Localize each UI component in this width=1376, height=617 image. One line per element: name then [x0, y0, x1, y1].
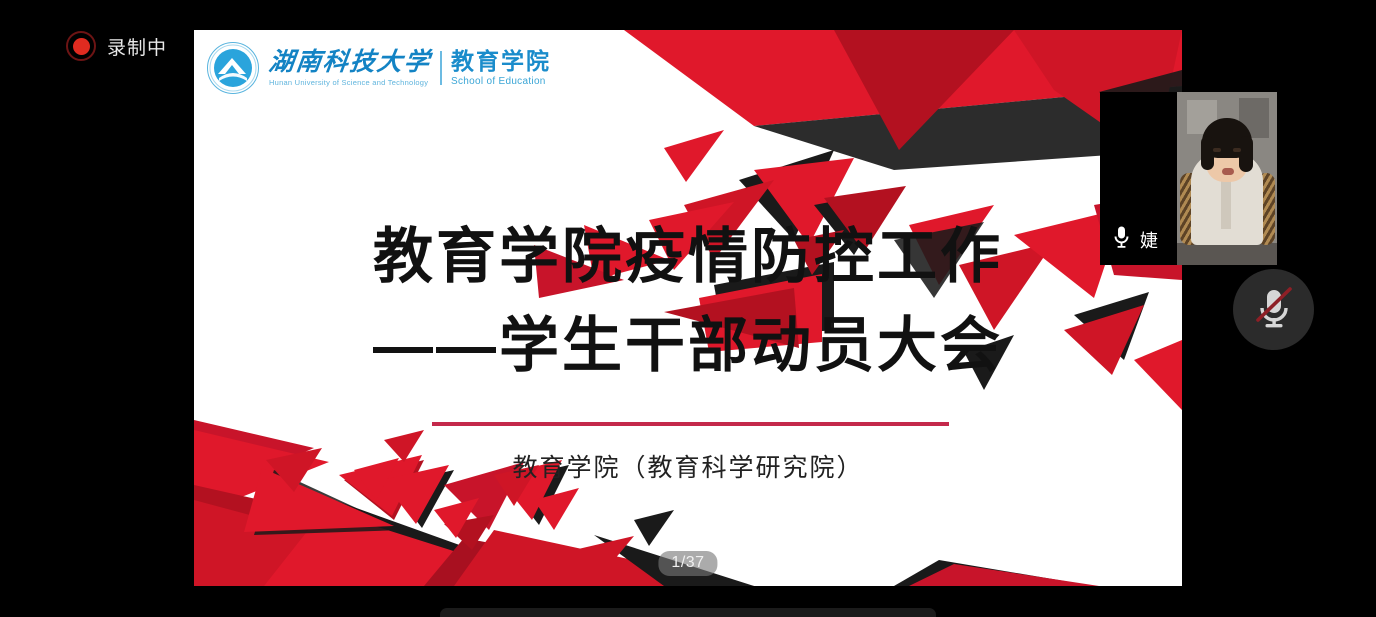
- slide-subtitle: 教育学院（教育科学研究院）: [194, 448, 1182, 484]
- webcam-hair-right: [1239, 136, 1253, 172]
- participant-webcam-feed: [1177, 92, 1277, 265]
- slide-title-group: 教育学院疫情防控工作 ——学生干部动员大会: [194, 222, 1182, 382]
- university-emblem-icon: [206, 41, 260, 95]
- microphone-muted-icon: [1253, 283, 1295, 336]
- university-name-en: Hunan University of Science and Technolo…: [269, 78, 431, 87]
- screen-share-viewer: 录制中: [0, 0, 1376, 617]
- title-rule: [432, 422, 949, 426]
- mute-toggle-button[interactable]: [1233, 269, 1314, 350]
- recording-label: 录制中: [107, 33, 167, 60]
- recording-dot-icon: [66, 31, 96, 61]
- logo-text-group: 湖南科技大学 Hunan University of Science and T…: [269, 49, 551, 87]
- institution-logo: 湖南科技大学 Hunan University of Science and T…: [206, 41, 551, 95]
- university-name-block: 湖南科技大学 Hunan University of Science and T…: [269, 49, 431, 87]
- university-name-cn: 湖南科技大学: [267, 49, 432, 75]
- webcam-mouth: [1222, 168, 1234, 175]
- presentation-slide[interactable]: 湖南科技大学 Hunan University of Science and T…: [194, 30, 1182, 586]
- participant-video-tile[interactable]: 婕: [1100, 92, 1277, 265]
- recording-indicator: 录制中: [66, 31, 167, 61]
- school-name-block: 教育学院 School of Education: [451, 49, 551, 87]
- page-indicator: 1/37: [658, 551, 717, 576]
- slide-title-line1: 教育学院疫情防控工作: [194, 222, 1182, 293]
- school-name-en: School of Education: [451, 76, 551, 87]
- participant-label: 婕: [1112, 225, 1159, 255]
- webcam-eye-right: [1233, 148, 1241, 152]
- recording-dot-inner: [73, 38, 90, 55]
- bottom-toolbar[interactable]: [440, 608, 936, 617]
- webcam-hair-left: [1201, 136, 1214, 170]
- school-name-cn: 教育学院: [451, 49, 551, 73]
- participant-name: 婕: [1140, 227, 1159, 253]
- webcam-desk: [1177, 243, 1277, 265]
- logo-divider: [440, 51, 442, 85]
- webcam-eye-left: [1213, 148, 1221, 152]
- slide-title-line2: ——学生干部动员大会: [194, 311, 1182, 382]
- microphone-icon: [1112, 225, 1131, 255]
